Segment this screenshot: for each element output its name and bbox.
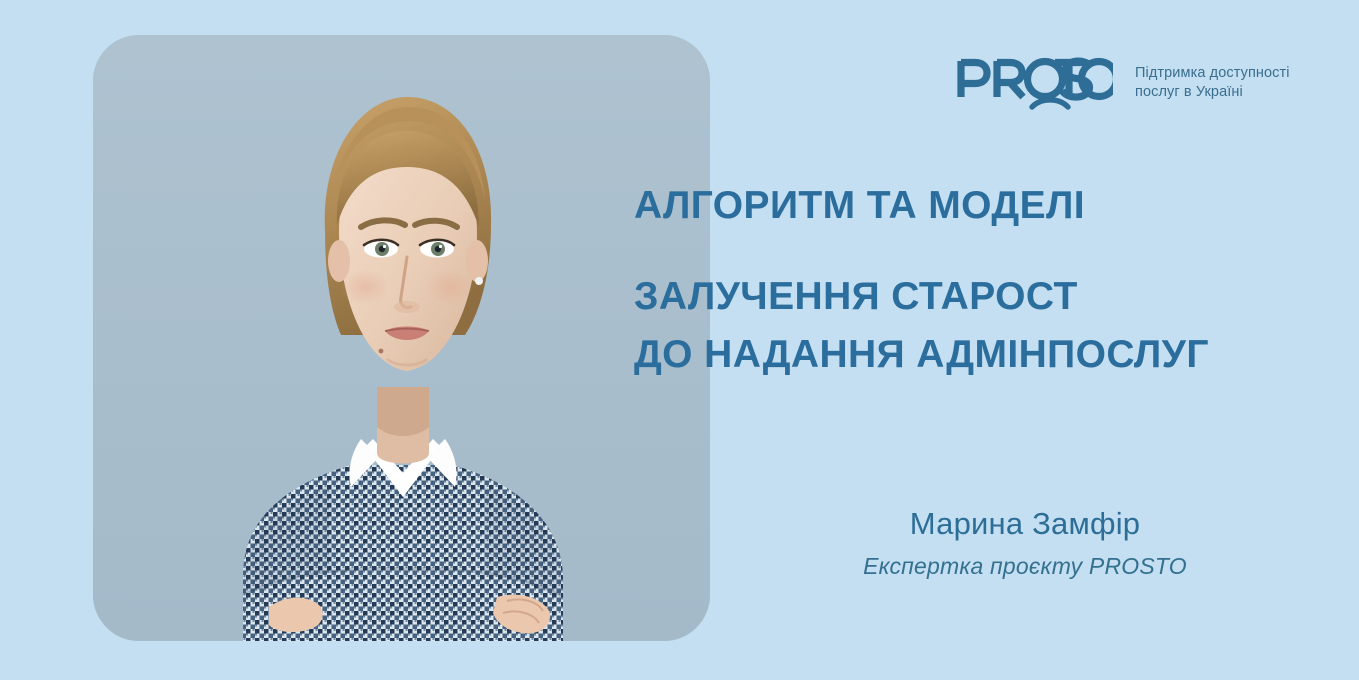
prosto-wordmark-icon — [955, 57, 1113, 113]
headline-line-2: ЗАЛУЧЕННЯ СТАРОСТ — [634, 277, 1294, 316]
speaker-role: Експертка проєкту PROSTO — [760, 553, 1290, 581]
logo-tagline: Підтримка доступності послуг в Україні — [1135, 57, 1290, 102]
headline-line-3: ДО НАДАННЯ АДМІНПОСЛУГ — [634, 335, 1294, 374]
presentation-slide: Підтримка доступності послуг в Україні А… — [0, 0, 1359, 680]
headline-group-secondary: ЗАЛУЧЕННЯ СТАРОСТ ДО НАДАННЯ АДМІНПОСЛУГ — [634, 277, 1294, 374]
speaker-name: Марина Замфір — [760, 506, 1290, 542]
prosto-logo: Підтримка доступності послуг в Україні — [955, 57, 1290, 113]
headline-group-primary: АЛГОРИТМ ТА МОДЕЛІ — [634, 186, 1294, 225]
earring — [475, 277, 483, 285]
portrait-illustration — [93, 35, 710, 641]
hand-left — [269, 598, 322, 632]
speaker-credit: Марина Замфір Експертка проєкту PROSTO — [760, 506, 1290, 580]
slide-headline: АЛГОРИТМ ТА МОДЕЛІ ЗАЛУЧЕННЯ СТАРОСТ ДО … — [634, 186, 1294, 374]
headline-line-1: АЛГОРИТМ ТА МОДЕЛІ — [634, 186, 1294, 225]
beauty-mark — [379, 349, 384, 354]
speaker-photo — [93, 35, 710, 641]
